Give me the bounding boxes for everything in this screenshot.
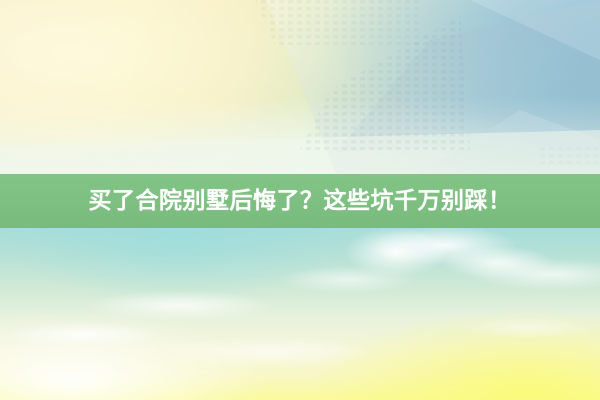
- title-band: 买了合院别墅后悔了？这些坑千万别踩！: [0, 174, 600, 228]
- building-grid-pattern-upper: [255, 0, 430, 50]
- bottom-artwork-sky: [0, 228, 600, 400]
- cloud-layer: [0, 228, 600, 400]
- banner-image: 买了合院别墅后悔了？这些坑千万别踩！: [0, 0, 600, 400]
- geometric-facets-graphic: [0, 0, 600, 174]
- top-artwork: [0, 0, 600, 174]
- facet-shape-5: [0, 130, 600, 174]
- banner-headline: 买了合院别墅后悔了？这些坑千万别踩！: [89, 190, 512, 213]
- building-grid-pattern-right: [540, 146, 600, 164]
